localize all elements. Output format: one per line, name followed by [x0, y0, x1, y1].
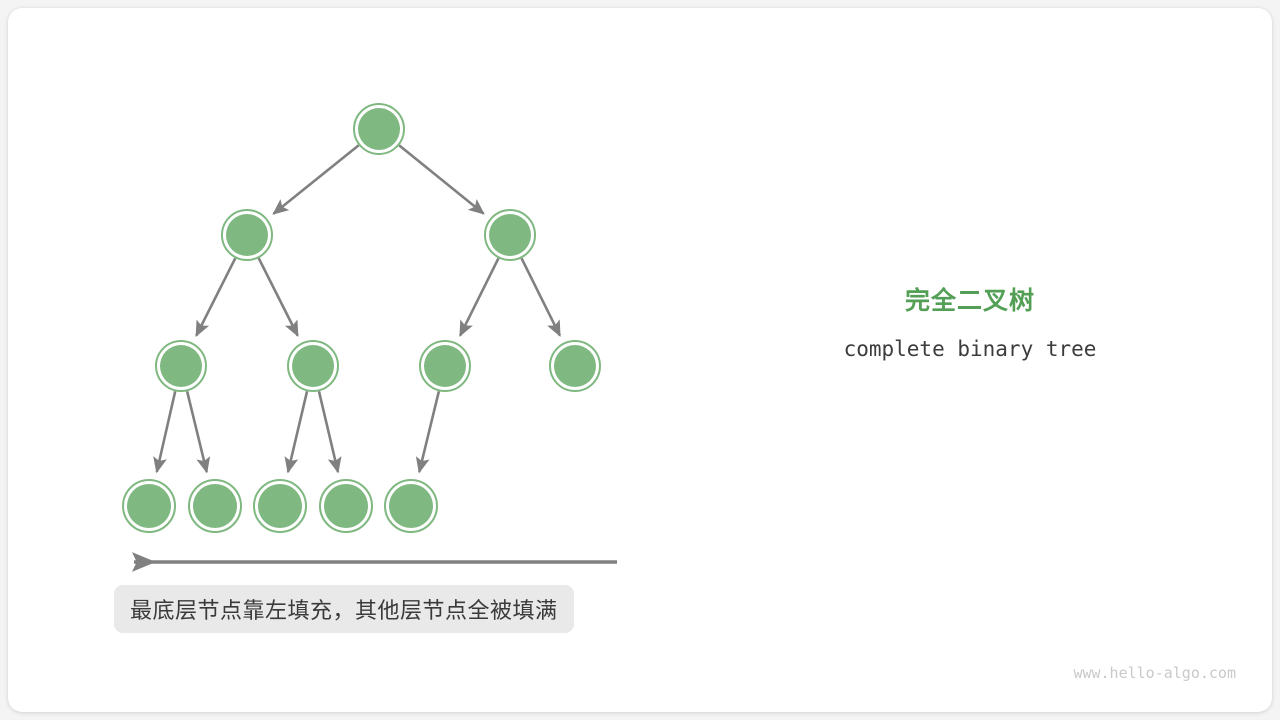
tree-node	[288, 341, 338, 391]
tree-edge	[319, 391, 338, 472]
tree-edge	[187, 391, 207, 472]
tree-nodes	[123, 104, 600, 532]
node-body	[324, 484, 368, 528]
caption-text: 最底层节点靠左填充，其他层节点全被填满	[130, 593, 558, 625]
legend-subtitle: complete binary tree	[760, 337, 1180, 361]
tree-node	[222, 210, 272, 260]
tree-edge	[259, 258, 298, 335]
tree-edge	[399, 145, 483, 213]
tree-node	[485, 210, 535, 260]
node-body	[258, 484, 302, 528]
tree-edge	[460, 258, 498, 335]
node-body	[193, 484, 237, 528]
slide-frame: 完全二叉树 complete binary tree 最底层节点靠左填充，其他层…	[0, 0, 1280, 720]
node-body	[127, 484, 171, 528]
tree-node	[189, 480, 241, 532]
node-body	[358, 108, 400, 150]
tree-node	[385, 480, 437, 532]
node-body	[160, 345, 202, 387]
node-body	[292, 345, 334, 387]
node-body	[389, 484, 433, 528]
tree-node	[420, 341, 470, 391]
tree-node	[156, 341, 206, 391]
tree-node	[254, 480, 306, 532]
node-body	[554, 345, 596, 387]
tree-node	[123, 480, 175, 532]
legend: 完全二叉树 complete binary tree	[760, 286, 1180, 361]
caption-pill: 最底层节点靠左填充，其他层节点全被填满	[114, 585, 574, 633]
node-body	[424, 345, 466, 387]
tree-edge	[288, 391, 307, 472]
tree-edge	[419, 391, 439, 472]
node-body	[489, 214, 531, 256]
tree-node	[550, 341, 600, 391]
tree-edge	[196, 258, 235, 335]
tree-node	[354, 104, 404, 154]
tree-edge	[157, 391, 175, 472]
tree-edges	[157, 145, 560, 472]
tree-node	[320, 480, 372, 532]
watermark: www.hello-algo.com	[1073, 664, 1236, 682]
node-body	[226, 214, 268, 256]
tree-edge	[522, 258, 560, 335]
tree-edge	[274, 145, 359, 213]
legend-title: 完全二叉树	[760, 286, 1180, 317]
